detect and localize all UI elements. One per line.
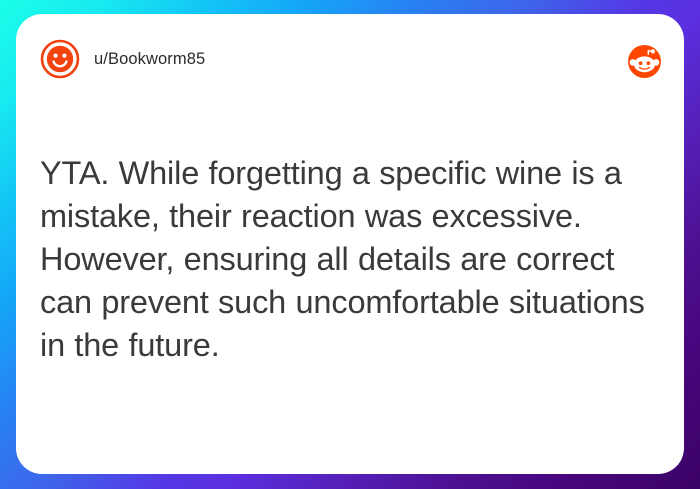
reddit-snoo-logo-icon: [628, 45, 661, 78]
smiley-face-avatar-icon: [40, 39, 80, 79]
quote-text: YTA. While forgetting a specific wine is…: [40, 152, 665, 367]
reddit-quote-card: u/Bookworm85 YTA. While forgetting a spe: [16, 14, 684, 474]
card-header: u/Bookworm85: [16, 14, 684, 104]
username-label: u/Bookworm85: [94, 50, 205, 69]
